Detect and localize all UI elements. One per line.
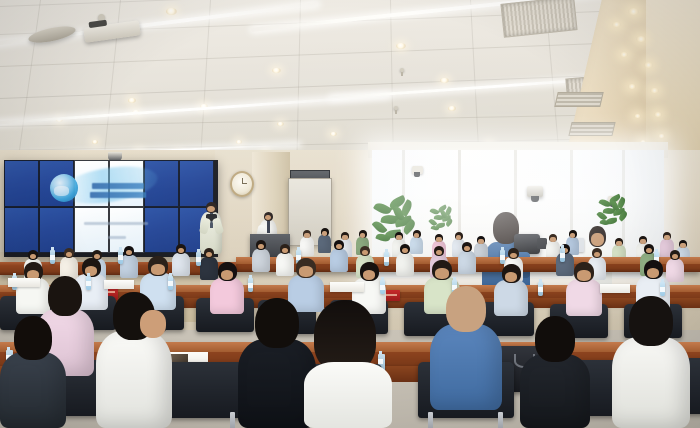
ceiling-downlight xyxy=(166,8,177,15)
person-torso xyxy=(300,237,314,256)
water-bottle xyxy=(196,252,201,266)
ceiling-sprinkler xyxy=(394,106,398,110)
document-paper xyxy=(600,284,630,293)
person-torso xyxy=(304,362,392,428)
ceiling-downlight xyxy=(128,98,136,103)
person-face xyxy=(570,233,575,237)
person-torso xyxy=(612,337,690,428)
person-face xyxy=(299,266,313,276)
person-face xyxy=(140,310,166,338)
chair-leg xyxy=(230,412,235,428)
audience-member xyxy=(430,286,502,410)
person-face xyxy=(505,272,518,282)
person-face xyxy=(591,233,604,246)
soffit-downlight xyxy=(628,84,636,89)
water-bottle xyxy=(500,250,505,264)
person-torso xyxy=(566,279,602,316)
person-torso xyxy=(458,251,476,274)
audience-member xyxy=(0,316,66,428)
person-face xyxy=(342,235,347,239)
soffit-downlight xyxy=(634,114,641,118)
chair-leg xyxy=(428,412,433,428)
person-face xyxy=(680,243,685,247)
person-torso xyxy=(330,249,348,272)
water-bottle xyxy=(168,276,173,290)
slide-subtitle xyxy=(84,222,148,225)
person-face xyxy=(151,264,165,274)
side-air-vent xyxy=(554,92,603,107)
slide-title-line-1 xyxy=(92,183,144,189)
person-torso xyxy=(0,352,66,428)
audience-member xyxy=(520,316,590,428)
person-face xyxy=(577,270,591,280)
audience-member xyxy=(396,244,414,276)
person-face xyxy=(550,237,555,241)
person-face xyxy=(436,237,441,241)
video-wall-panel-blue xyxy=(4,160,39,207)
video-wall-panel-blue xyxy=(39,207,74,254)
person-face xyxy=(304,233,309,237)
document-paper xyxy=(104,280,134,289)
wall-clock xyxy=(230,171,254,197)
document-paper xyxy=(330,282,364,292)
person-head xyxy=(446,286,486,332)
water-bottle xyxy=(538,282,543,296)
potted-plant xyxy=(428,206,455,233)
person-face xyxy=(322,231,327,235)
water-bottle xyxy=(248,278,253,292)
person-face xyxy=(435,268,449,278)
soffit-downlight xyxy=(654,112,662,117)
ptz-camera xyxy=(527,186,543,197)
ceiling-downlight xyxy=(236,140,242,144)
person-face xyxy=(616,241,621,245)
person-head xyxy=(535,316,575,362)
person-torso xyxy=(252,249,270,272)
person-face xyxy=(363,270,376,280)
water-bottle xyxy=(560,248,565,262)
person-head xyxy=(14,316,52,360)
person-head xyxy=(48,276,82,316)
person-head xyxy=(255,298,299,348)
person-face xyxy=(360,233,365,237)
soffit-downlight xyxy=(650,88,659,93)
person-face xyxy=(396,235,401,239)
audience-member xyxy=(252,240,270,272)
ceiling-downlight xyxy=(396,43,406,49)
person-face xyxy=(221,270,234,280)
ceiling-sprinkler xyxy=(400,68,404,72)
side-air-vent xyxy=(568,122,615,136)
conference-room-photo: Corporate conference room seminar with v… xyxy=(0,0,700,428)
ceiling-downlight xyxy=(92,140,98,144)
person-face xyxy=(456,235,461,239)
wall-camera xyxy=(412,166,423,174)
person-face xyxy=(647,268,660,278)
video-wall-panel-blue xyxy=(179,160,214,207)
soffit-downlight xyxy=(644,62,653,68)
audience-member xyxy=(612,296,690,428)
slide-title-line-2 xyxy=(90,192,146,198)
person-tie xyxy=(267,221,270,233)
water-bottle xyxy=(380,280,385,294)
chair-leg xyxy=(498,412,503,428)
presenter-with-microphone xyxy=(200,202,222,254)
video-wall-panel-slide xyxy=(74,207,109,254)
audience-member xyxy=(566,262,602,316)
slide-globe-icon xyxy=(50,174,78,202)
audience-member xyxy=(330,240,348,272)
person-face xyxy=(414,233,419,237)
person-face xyxy=(664,235,669,239)
person-face xyxy=(640,239,645,243)
audience-member-long-hair xyxy=(300,300,396,428)
ceiling-downlight xyxy=(448,106,456,111)
person-torso xyxy=(396,253,414,276)
slide-footer xyxy=(108,236,126,239)
water-bottle xyxy=(660,282,665,296)
water-bottle xyxy=(50,250,55,264)
audience-member xyxy=(458,242,476,274)
person-torso xyxy=(520,354,590,428)
potted-plant xyxy=(596,196,629,229)
person-face xyxy=(478,239,483,243)
scene-caption: Corporate conference room seminar with v… xyxy=(0,0,29,1)
person-head xyxy=(629,296,673,346)
person-torso xyxy=(430,324,502,410)
audience-member xyxy=(300,230,314,256)
video-wall-panel-blue xyxy=(4,207,39,254)
soffit-downlight xyxy=(628,8,639,15)
audience-member-with-glasses xyxy=(96,292,176,428)
water-bottle xyxy=(118,250,123,264)
